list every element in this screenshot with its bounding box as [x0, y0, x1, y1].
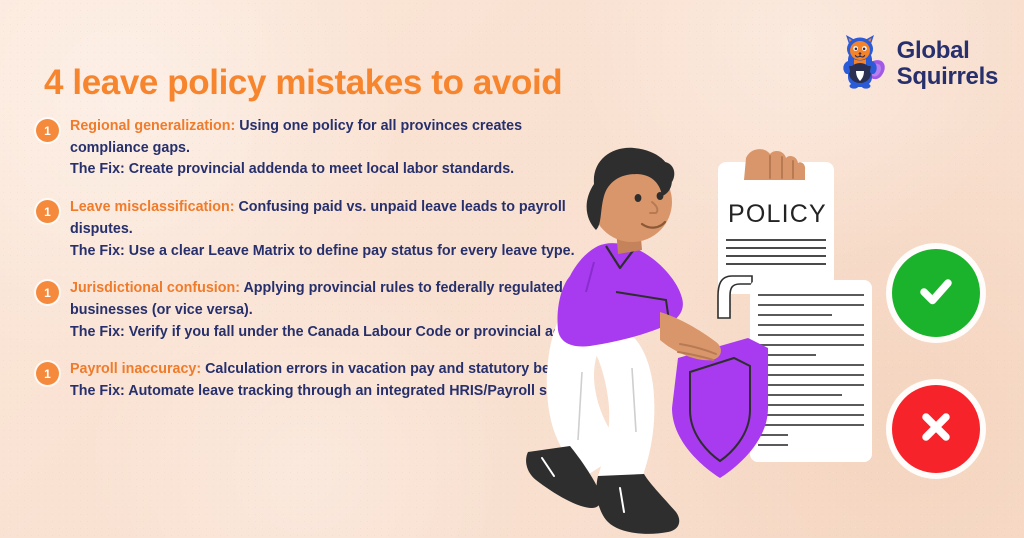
- brand-name-line1: Global: [897, 37, 970, 64]
- svg-text:POLICY: POLICY: [728, 200, 827, 228]
- page-title: 4 leave policy mistakes to avoid: [44, 63, 562, 103]
- list-item: 1 Payroll inaccuracy: Calculation errors…: [36, 359, 602, 402]
- bullet-number-badge: 1: [36, 200, 59, 223]
- bullet-number-badge: 1: [36, 119, 59, 142]
- list-item: 1 Jurisdictional confusion: Applying pro…: [36, 278, 602, 343]
- bullet-number-badge: 1: [36, 281, 59, 304]
- policy-illustration: Person holding a policy document with a …: [520, 140, 920, 538]
- close-icon: [913, 404, 959, 455]
- list-item: 1 Leave misclassification: Confusing pai…: [36, 197, 602, 262]
- check-icon: [913, 268, 959, 319]
- brand-logo: Global Squirrels: [836, 33, 998, 94]
- list-item-lead: Jurisdictional confusion:: [70, 280, 240, 296]
- mistakes-list: 1 Regional generalization: Using one pol…: [36, 116, 602, 419]
- status-success-badge: check-mark: [892, 249, 980, 337]
- brand-name: Global Squirrels: [897, 38, 998, 89]
- list-item-fix: The Fix: Automate leave tracking through…: [70, 381, 592, 403]
- brand-name-line2: Squirrels: [897, 63, 998, 90]
- list-item-lead: Leave misclassification:: [70, 199, 235, 215]
- squirrel-mascot-icon: [836, 33, 888, 94]
- status-error-badge: cross-mark: [892, 385, 980, 473]
- list-item-lead: Regional generalization:: [70, 118, 235, 134]
- list-item: 1 Regional generalization: Using one pol…: [36, 116, 602, 181]
- infographic-canvas: 4 leave policy mistakes to avoid: [0, 0, 1024, 538]
- badge-number: 1: [36, 200, 59, 223]
- list-item-text: Payroll inaccuracy: Calculation errors i…: [70, 359, 592, 402]
- bullet-number-badge: 1: [36, 362, 59, 385]
- list-item-lead: Payroll inaccuracy:: [70, 361, 201, 377]
- badge-number: 1: [36, 119, 59, 142]
